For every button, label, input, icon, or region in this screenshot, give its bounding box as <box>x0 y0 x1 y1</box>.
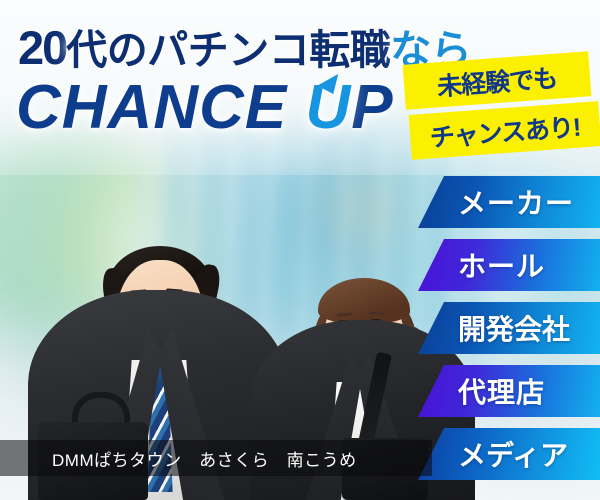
badge-line-2: チャンスあり! <box>409 101 600 160</box>
headline-number: 20 <box>18 21 66 74</box>
chance-up-logo: CHANCE UP <box>16 72 394 143</box>
logo-word-chance: CHANCE <box>16 73 287 142</box>
logo-letter-u-arrow-icon: U <box>305 73 351 142</box>
category-list: メーカー ホール 開発会社 代理店 メディア <box>418 176 600 491</box>
credit-caption-text: DMMぱちタウン あさくら 南こうめ <box>52 446 357 471</box>
recruitment-banner: 20代のパチンコ転職なら CHANCE UP 未経験でも チャンスあり! メーカ… <box>0 0 600 500</box>
category-label-development-company: 開発会社 <box>458 308 570 348</box>
category-label-hall: ホール <box>458 245 545 285</box>
badge-line-1: 未経験でも <box>403 51 592 110</box>
category-button-media[interactable]: メディア <box>418 428 600 480</box>
experience-badge: 未経験でも チャンスあり! <box>402 56 598 160</box>
female-bangs <box>318 278 410 324</box>
category-button-hall[interactable]: ホール <box>418 239 600 291</box>
category-button-development-company[interactable]: 開発会社 <box>418 302 600 354</box>
category-label-media: メディア <box>458 434 568 474</box>
logo-letter-p: P <box>351 73 393 142</box>
headline-rest: 代のパチンコ転職 <box>66 27 390 73</box>
credit-caption-bar: DMMぱちタウン あさくら 南こうめ <box>0 440 432 476</box>
category-label-maker: メーカー <box>458 182 574 222</box>
category-label-agency: 代理店 <box>458 371 545 411</box>
category-button-maker[interactable]: メーカー <box>418 176 600 228</box>
category-button-agency[interactable]: 代理店 <box>418 365 600 417</box>
